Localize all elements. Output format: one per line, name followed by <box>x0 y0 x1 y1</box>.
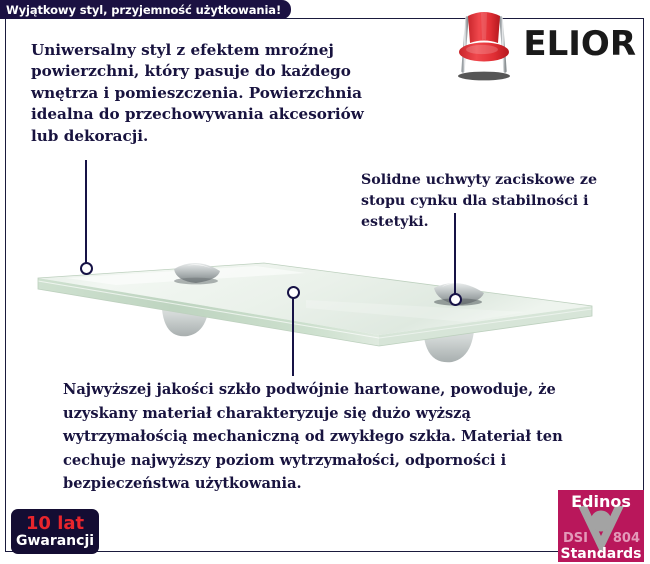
brand-logo: ELIOR <box>464 6 636 82</box>
callout-line-right <box>454 213 456 297</box>
certificate-number: 804 <box>613 531 640 546</box>
certificate-badge-edinos: Edinos DSI 804 Standards <box>558 490 644 562</box>
warranty-years: 10 lat <box>26 515 84 533</box>
product-photo-glass-shelf <box>6 250 644 375</box>
callout-line-top-left <box>85 160 87 264</box>
red-chair-icon <box>451 7 517 81</box>
callout-text-top-left: Uniwersalny styl z efektem mroźnej powie… <box>31 40 371 147</box>
callout-text-right: Solidne uchwyty zaciskowe ze stopu cynku… <box>361 170 633 233</box>
certificate-standards-label: Standards <box>558 546 644 562</box>
callout-line-bottom <box>292 296 294 376</box>
certificate-dsi-label: DSI <box>563 531 588 546</box>
callout-dot-top-left <box>80 262 93 275</box>
brand-name: ELIOR <box>523 27 636 61</box>
promo-banner-text: Wyjątkowy styl, przyjemność użytkowania! <box>6 3 281 17</box>
certificate-title: Edinos <box>558 492 644 511</box>
callout-text-bottom: Najwyższej jakości szkło podwójnie harto… <box>63 378 593 496</box>
promo-banner: Wyjątkowy styl, przyjemność użytkowania! <box>0 0 291 19</box>
callout-dot-bottom <box>287 286 300 299</box>
warranty-label: Gwarancji <box>16 534 94 548</box>
warranty-badge: 10 lat Gwarancji <box>11 509 99 554</box>
callout-dot-right <box>449 293 462 306</box>
